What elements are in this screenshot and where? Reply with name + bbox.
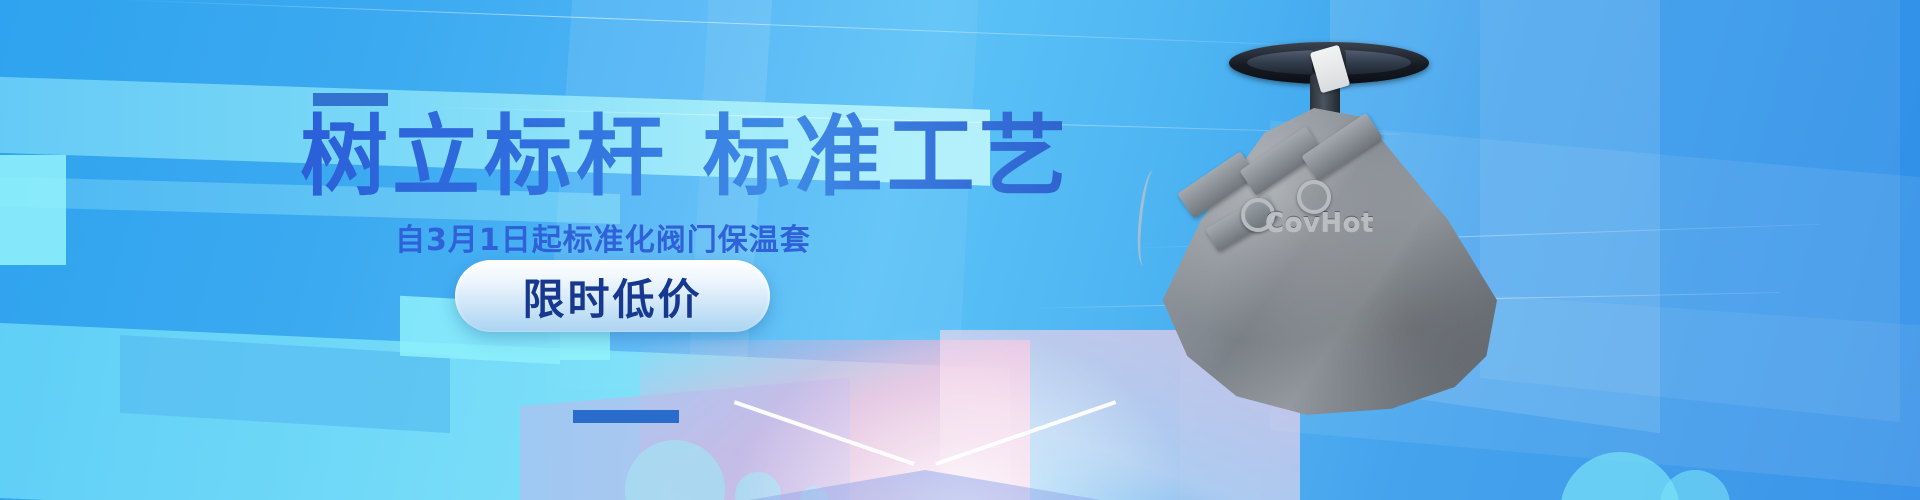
page-title: 树立标杆 标准工艺 (300, 110, 1071, 203)
underline-bar (573, 410, 679, 423)
cyan-chip-1 (0, 155, 66, 265)
cta-button-label: 限时低价 (522, 266, 702, 327)
background-decoration-layer (0, 0, 1920, 500)
product-image: CovHot (1145, 20, 1505, 440)
brand-logo-text: CovHot (1265, 208, 1374, 238)
promo-banner: 树立标杆 标准工艺 自3月1日起标准化阀门保温套 限时低价 CovHot (0, 0, 1920, 500)
cta-button[interactable]: 限时低价 (455, 260, 770, 332)
subtitle: 自3月1日起标准化阀门保温套 (395, 215, 811, 259)
white-chevron-outline (760, 466, 1090, 500)
